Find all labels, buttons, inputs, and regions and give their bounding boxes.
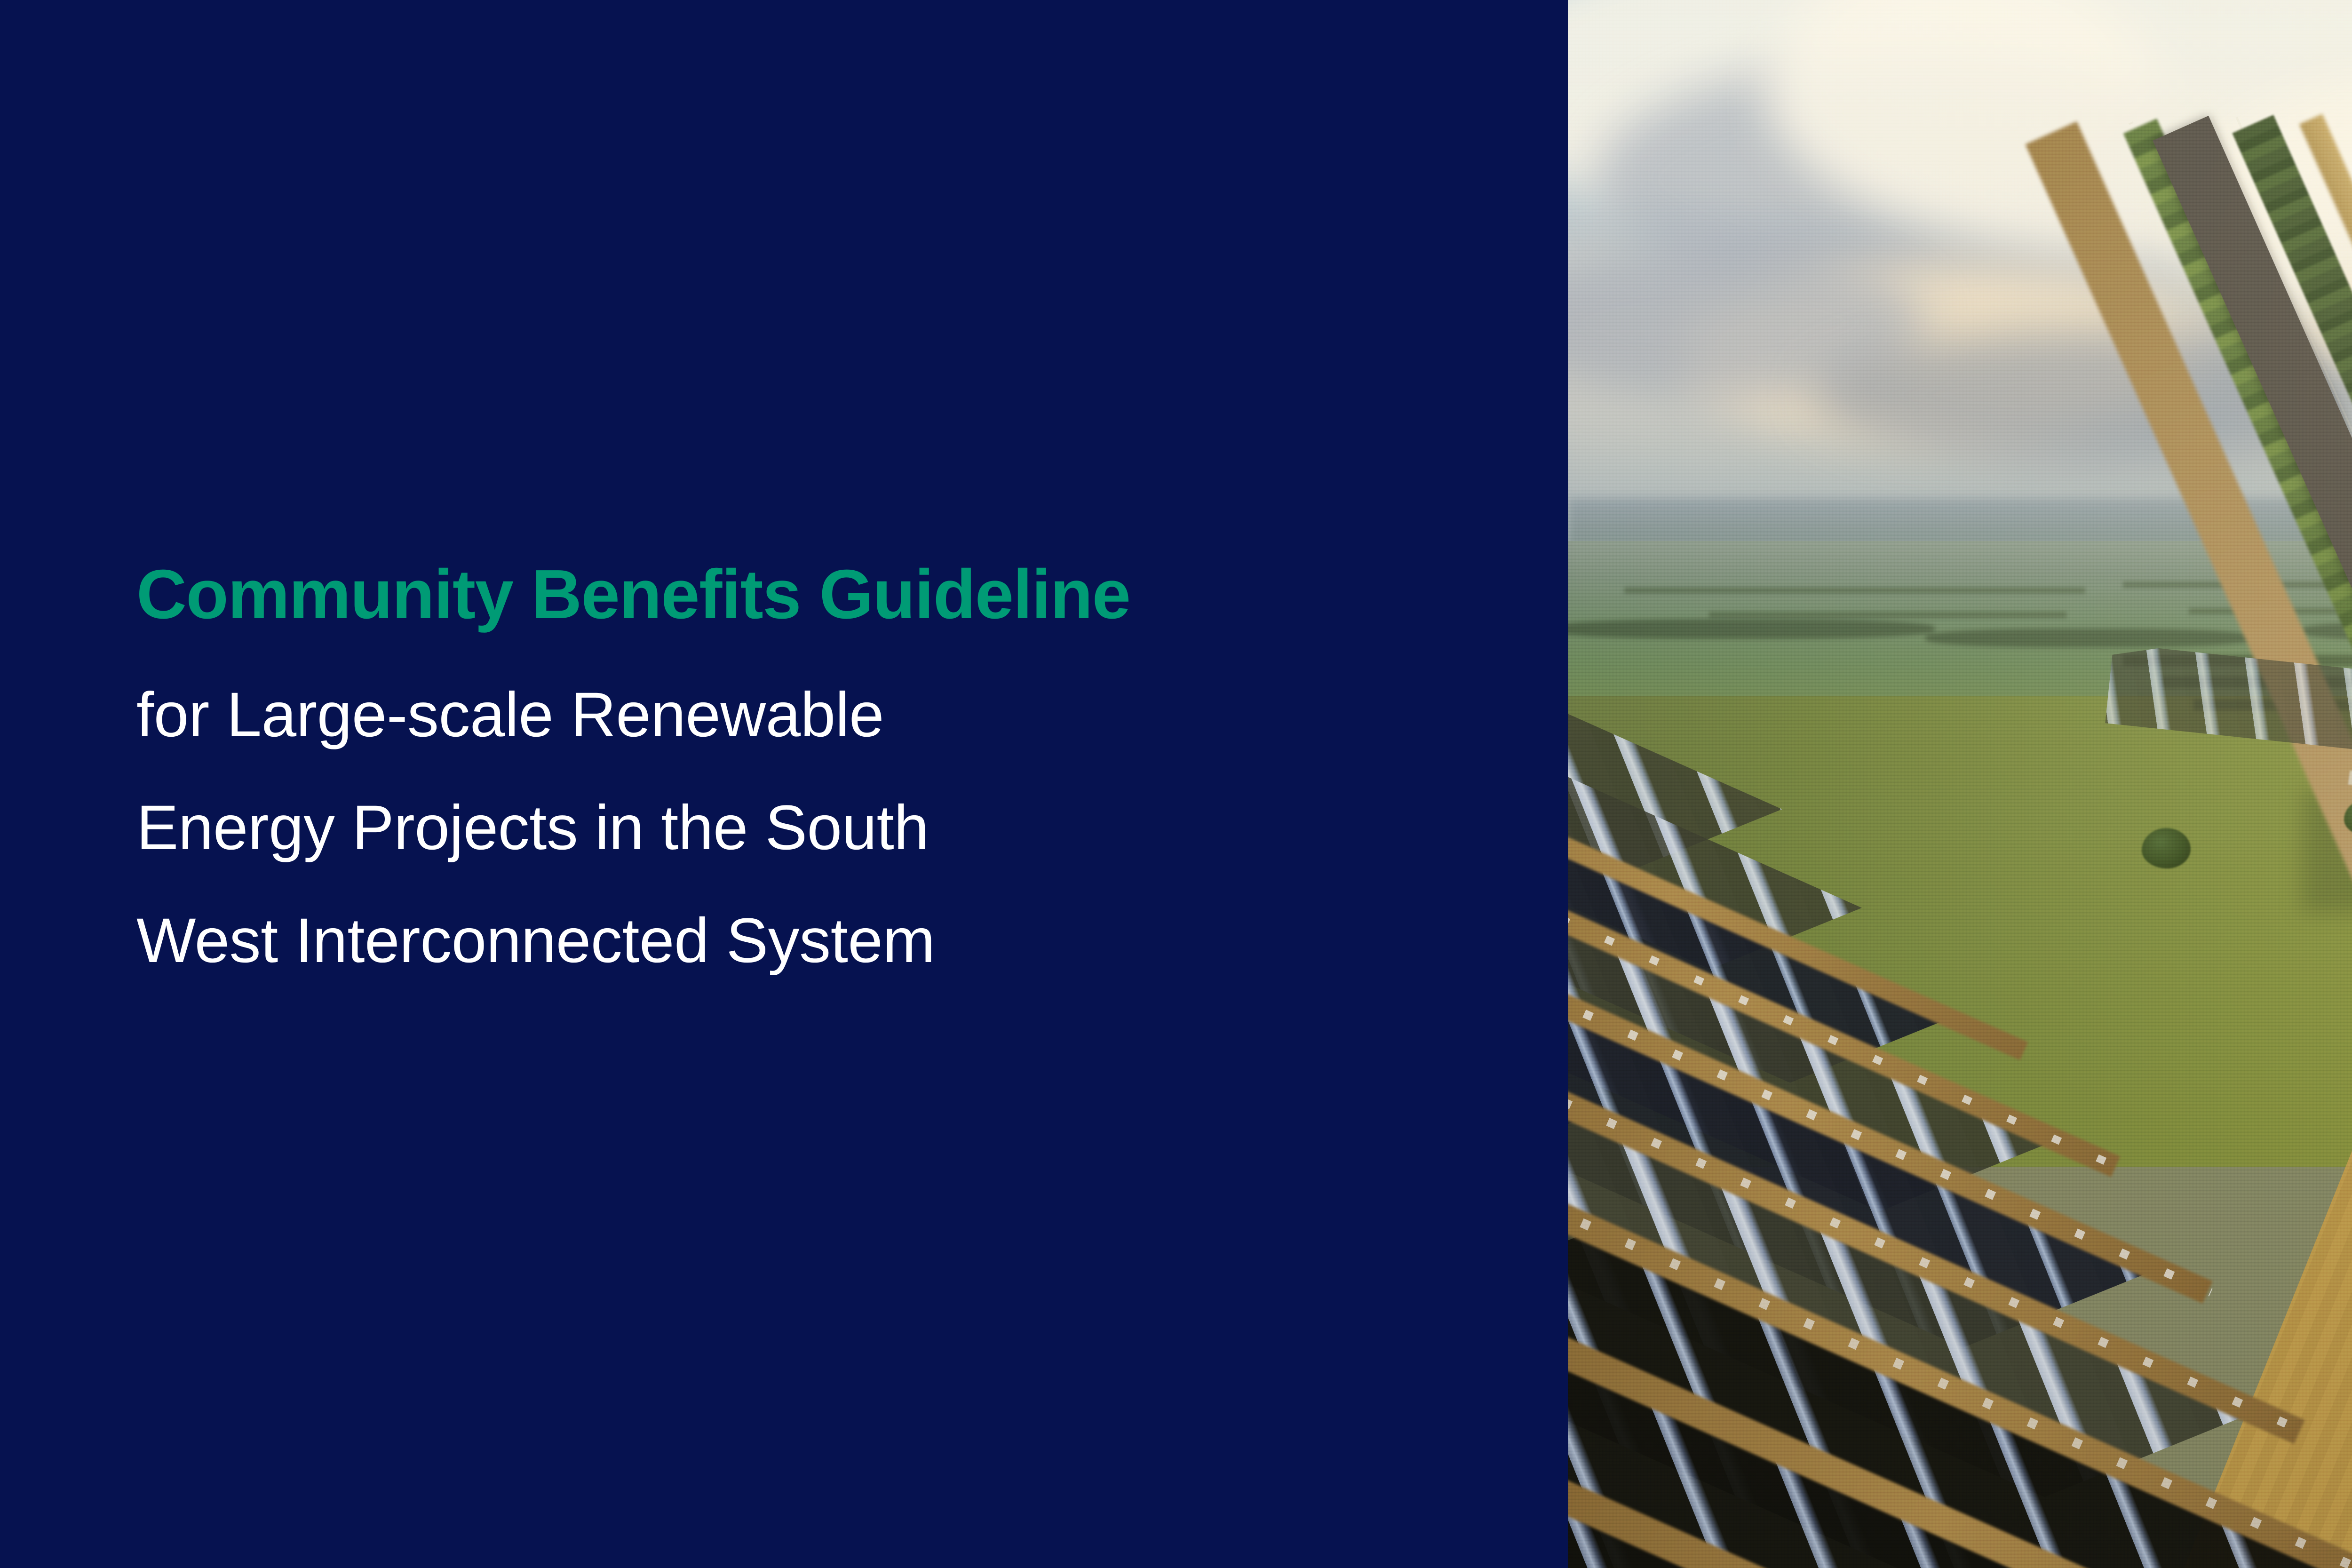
tree xyxy=(2142,828,2191,868)
report-cover: Community Benefits Guideline for Large-s… xyxy=(0,0,2352,1568)
title-block: Community Benefits Guideline for Large-s… xyxy=(136,560,1501,997)
distant-solar-array xyxy=(2105,644,2352,767)
page-subtitle-line-2: Energy Projects in the South xyxy=(136,772,1501,884)
cover-photograph xyxy=(1568,0,2352,1568)
solar-panel-array xyxy=(1568,0,2352,1568)
page-title-highlight: Community Benefits Guideline xyxy=(136,560,1501,629)
page-subtitle-line-1: for Large-scale Renewable xyxy=(136,659,1501,772)
title-panel: Community Benefits Guideline for Large-s… xyxy=(0,0,1568,1568)
page-subtitle-line-3: West Interconnected System xyxy=(136,884,1501,997)
photo-scene xyxy=(1568,0,2352,1568)
